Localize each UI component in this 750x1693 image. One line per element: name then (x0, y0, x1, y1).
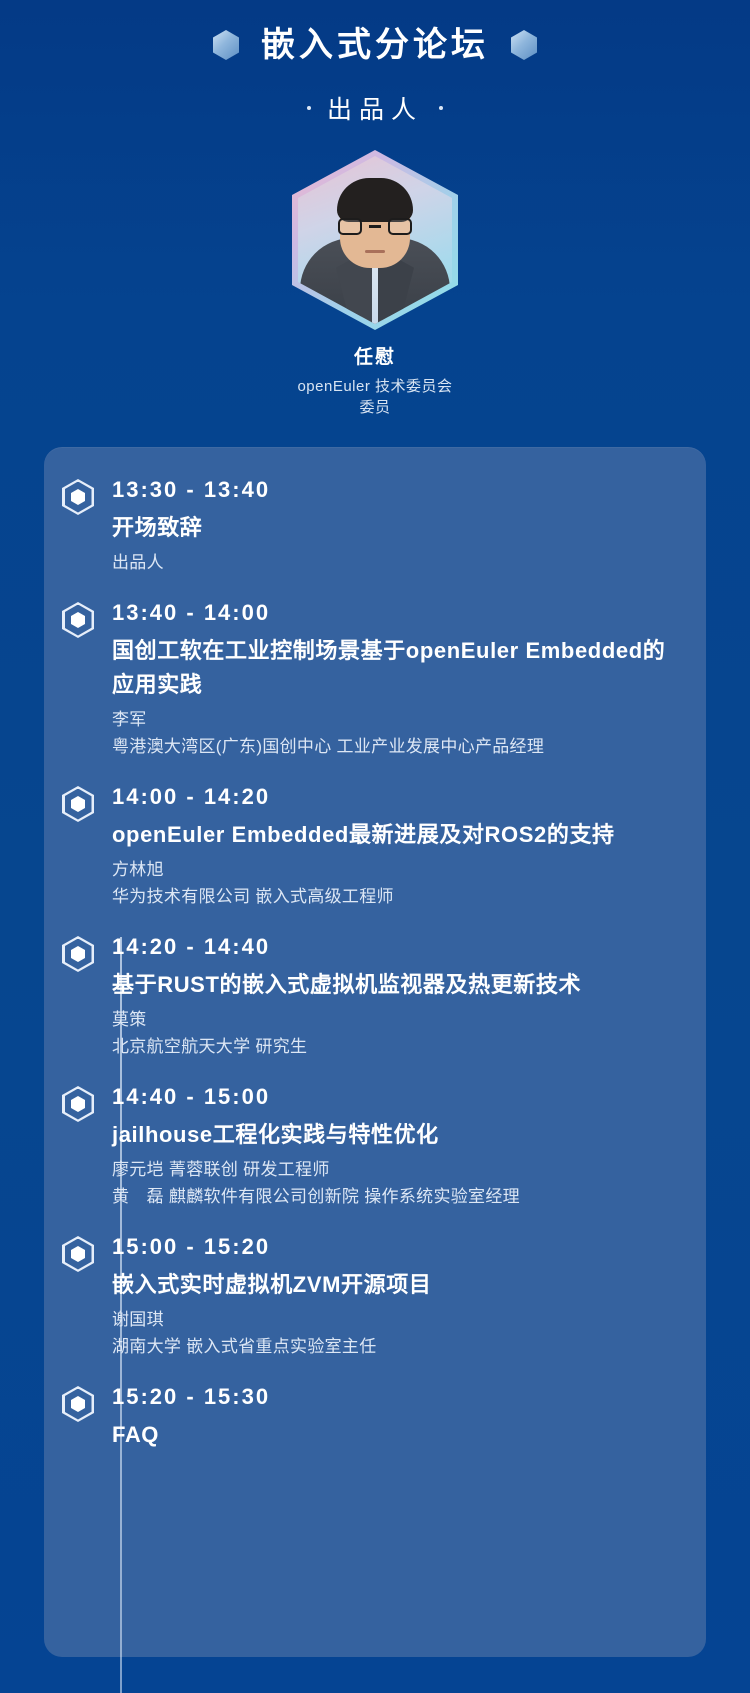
hexagon-marker-icon (62, 602, 94, 638)
agenda-item-speaker-line: 莫策 (112, 1006, 682, 1033)
agenda-item-topic: FAQ (112, 1418, 682, 1452)
glasses-bridge (369, 225, 381, 228)
agenda-item-speakers: 方林旭华为技术有限公司 嵌入式高级工程师 (112, 856, 682, 910)
agenda-item-speaker-line: 方林旭 (112, 856, 682, 883)
subtitle-row: 出品人 (0, 90, 750, 126)
section-subtitle: 出品人 (327, 90, 423, 126)
poster-page: 嵌入式分论坛 出品人 任慰 (0, 0, 750, 1693)
agenda-card: 13:30 - 13:40开场致辞出品人13:40 - 14:00国创工软在工业… (44, 447, 706, 1657)
agenda-item-speaker-line: 北京航空航天大学 研究生 (112, 1033, 682, 1060)
hexagon-marker-icon (62, 1386, 94, 1422)
agenda-item-speakers: 莫策北京航空航天大学 研究生 (112, 1006, 682, 1060)
agenda-item-topic: jailhouse工程化实践与特性优化 (112, 1118, 682, 1152)
presenter-org-line1: openEuler 技术委员会 (0, 376, 750, 397)
agenda-item-speaker-line: 廖元垲 菁蓉联创 研发工程师 (112, 1156, 682, 1183)
agenda-item-time: 15:00 - 15:20 (112, 1232, 682, 1262)
agenda-item-topic: 基于RUST的嵌入式虚拟机监视器及热更新技术 (112, 968, 682, 1002)
header: 嵌入式分论坛 出品人 (0, 0, 750, 126)
agenda-item-topic: 国创工软在工业控制场景基于openEuler Embedded的应用实践 (112, 634, 682, 702)
agenda-item-topic: 嵌入式实时虚拟机ZVM开源项目 (112, 1268, 682, 1302)
agenda-item-time: 13:40 - 14:00 (112, 598, 682, 628)
presenter-name: 任慰 (0, 342, 750, 369)
agenda-item-speaker-line: 谢国琪 (112, 1306, 682, 1333)
agenda-item-time: 13:30 - 13:40 (112, 475, 682, 505)
agenda-item[interactable]: 14:40 - 15:00jailhouse工程化实践与特性优化廖元垲 菁蓉联创… (44, 1082, 706, 1210)
hexagon-marker-icon (62, 1086, 94, 1122)
agenda-item[interactable]: 15:20 - 15:30FAQ (44, 1382, 706, 1452)
agenda-item-time: 14:00 - 14:20 (112, 782, 682, 812)
hexagon-icon-left (213, 30, 239, 60)
title-row: 嵌入式分论坛 (0, 16, 750, 74)
agenda-item-time: 14:20 - 14:40 (112, 932, 682, 962)
hexagon-icon-right (511, 30, 537, 60)
page-title: 嵌入式分论坛 (261, 24, 489, 66)
agenda-item-speakers: 廖元垲 菁蓉联创 研发工程师黄 磊 麒麟软件有限公司创新院 操作系统实验室经理 (112, 1156, 682, 1210)
agenda-item[interactable]: 13:30 - 13:40开场致辞出品人 (44, 475, 706, 576)
portrait-mouth (365, 250, 385, 253)
agenda-item-topic: openEuler Embedded最新进展及对ROS2的支持 (112, 818, 682, 852)
presenter-org-line2: 委员 (0, 397, 750, 418)
portrait-hair (337, 178, 413, 222)
agenda-item-speaker-line: 粤港澳大湾区(广东)国创中心 工业产业发展中心产品经理 (112, 733, 682, 760)
hexagon-marker-icon (62, 786, 94, 822)
agenda-item-speaker-line: 湖南大学 嵌入式省重点实验室主任 (112, 1333, 682, 1360)
agenda-item-speakers: 出品人 (112, 549, 682, 576)
presenter-org: openEuler 技术委员会 委员 (0, 376, 750, 418)
agenda-item[interactable]: 13:40 - 14:00国创工软在工业控制场景基于openEuler Embe… (44, 598, 706, 760)
glasses-icon-left (338, 218, 362, 235)
agenda-item[interactable]: 14:20 - 14:40基于RUST的嵌入式虚拟机监视器及热更新技术莫策北京航… (44, 932, 706, 1060)
agenda-item-topic: 开场致辞 (112, 511, 682, 545)
hexagon-marker-icon (62, 479, 94, 515)
agenda-item-time: 15:20 - 15:30 (112, 1382, 682, 1412)
dot-icon-left (307, 106, 311, 110)
agenda-list: 13:30 - 13:40开场致辞出品人13:40 - 14:00国创工软在工业… (44, 447, 706, 1452)
agenda-item-speakers: 李军粤港澳大湾区(广东)国创中心 工业产业发展中心产品经理 (112, 706, 682, 760)
dot-icon-right (439, 106, 443, 110)
agenda-item[interactable]: 14:00 - 14:20openEuler Embedded最新进展及对ROS… (44, 782, 706, 910)
agenda-item[interactable]: 15:00 - 15:20嵌入式实时虚拟机ZVM开源项目谢国琪湖南大学 嵌入式省… (44, 1232, 706, 1360)
agenda-item-speaker-line: 华为技术有限公司 嵌入式高级工程师 (112, 883, 682, 910)
glasses-icon-right (388, 218, 412, 235)
avatar (292, 150, 458, 330)
hexagon-marker-icon (62, 936, 94, 972)
hexagon-marker-icon (62, 1236, 94, 1272)
agenda-item-speaker-line: 出品人 (112, 549, 682, 576)
agenda-item-speaker-line: 李军 (112, 706, 682, 733)
presenter-block: 任慰 openEuler 技术委员会 委员 (0, 150, 750, 418)
agenda-item-speakers: 谢国琪湖南大学 嵌入式省重点实验室主任 (112, 1306, 682, 1360)
agenda-item-time: 14:40 - 15:00 (112, 1082, 682, 1112)
agenda-item-speaker-line: 黄 磊 麒麟软件有限公司创新院 操作系统实验室经理 (112, 1183, 682, 1210)
